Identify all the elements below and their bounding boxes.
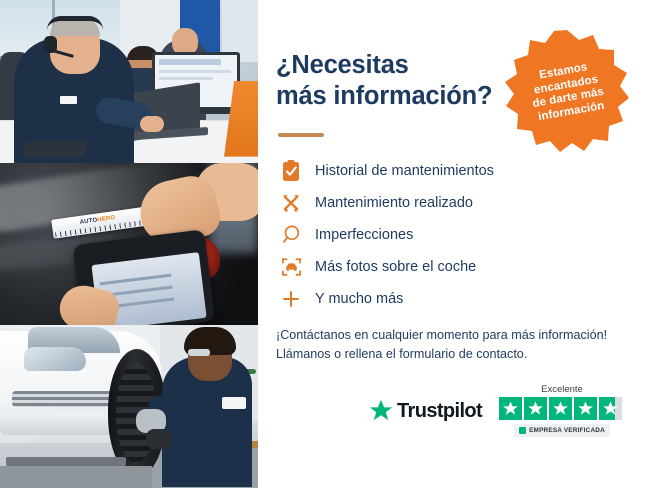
technician-badge <box>222 397 246 409</box>
wheel-inspection-photo <box>0 325 258 488</box>
technician-glove-2 <box>146 429 172 449</box>
car-photo-frame-icon <box>276 252 306 282</box>
magnifier-icon <box>276 220 306 250</box>
call-center-agents-photo <box>0 0 258 163</box>
agent-name-badge <box>60 96 77 104</box>
monitor-ui-bar <box>159 59 221 65</box>
page-title-line-1: ¿Necesitas <box>276 50 526 81</box>
car-inspection-ruler-photo: AUTOHERO <box>0 163 258 325</box>
feature-item-mas: Y mucho más <box>276 283 576 315</box>
feature-item-fotos: Más fotos sobre el coche <box>276 251 576 283</box>
feature-label: Y mucho más <box>315 291 403 307</box>
star-1 <box>499 397 522 420</box>
plus-icon <box>276 284 306 314</box>
ruler-brand-part2: HERO <box>97 215 116 223</box>
clipboard-check-icon <box>276 156 306 186</box>
verified-check-icon <box>519 427 526 434</box>
star-2 <box>524 397 547 420</box>
verified-badge: EMPRESA VERIFICADA <box>514 424 610 437</box>
lift-arm <box>6 457 126 466</box>
monitor-ui-row <box>159 70 231 73</box>
front-grille <box>12 391 116 407</box>
trustpilot-block: Trustpilot Excelente <box>368 384 626 446</box>
feature-item-historial: Historial de mantenimientos <box>276 155 576 187</box>
star-5-partial <box>599 397 622 420</box>
feature-label: Mantenimiento realizado <box>315 195 473 211</box>
title-divider <box>278 133 324 137</box>
trustpilot-logo[interactable]: Trustpilot <box>368 398 482 424</box>
headset-band <box>47 16 103 30</box>
agent-hand <box>140 116 164 132</box>
tools-cross-icon <box>276 188 306 218</box>
trustpilot-star-icon <box>368 398 394 424</box>
star-rating <box>499 397 625 420</box>
info-poster: AUTOHERO <box>0 0 650 488</box>
feature-label: Historial de mantenimientos <box>315 163 494 179</box>
contact-line-1: ¡Contáctanos en cualquier momento para m… <box>276 326 626 345</box>
rating-label: Excelente <box>499 384 625 395</box>
star-4 <box>574 397 597 420</box>
promo-badge: Estamos encantados de darte más informac… <box>501 26 633 158</box>
trustpilot-rating: Excelente <box>499 384 625 437</box>
monitor-ui-row-2 <box>159 77 213 80</box>
star-3 <box>549 397 572 420</box>
headlight <box>24 347 86 371</box>
feature-label: Más fotos sobre el coche <box>315 259 476 275</box>
contact-line-2: Llámanos o rellena el formulario de cont… <box>276 345 626 364</box>
feature-list: Historial de mantenimientos M <box>276 155 576 315</box>
ruler-brand-part1: AUTO <box>79 217 97 225</box>
safety-glasses <box>188 349 210 356</box>
page-title: ¿Necesitas más información? <box>276 50 526 111</box>
page-title-line-2: más información? <box>276 81 526 112</box>
photo-column: AUTOHERO <box>0 0 258 488</box>
feature-label: Imperfecciones <box>315 227 413 243</box>
contact-text: ¡Contáctanos en cualquier momento para m… <box>276 326 626 364</box>
feature-item-imperfecciones: Imperfecciones <box>276 219 576 251</box>
car-lift-platform <box>0 466 152 488</box>
trustpilot-wordmark: Trustpilot <box>397 400 482 423</box>
verified-label: EMPRESA VERIFICADA <box>529 427 605 434</box>
feature-item-mantenimiento: Mantenimiento realizado <box>276 187 576 219</box>
badge-text: Estamos encantados de darte más informac… <box>490 15 645 170</box>
content-panel: ¿Necesitas más información? Estamos enca… <box>258 0 650 488</box>
desk-tablet <box>21 141 89 157</box>
